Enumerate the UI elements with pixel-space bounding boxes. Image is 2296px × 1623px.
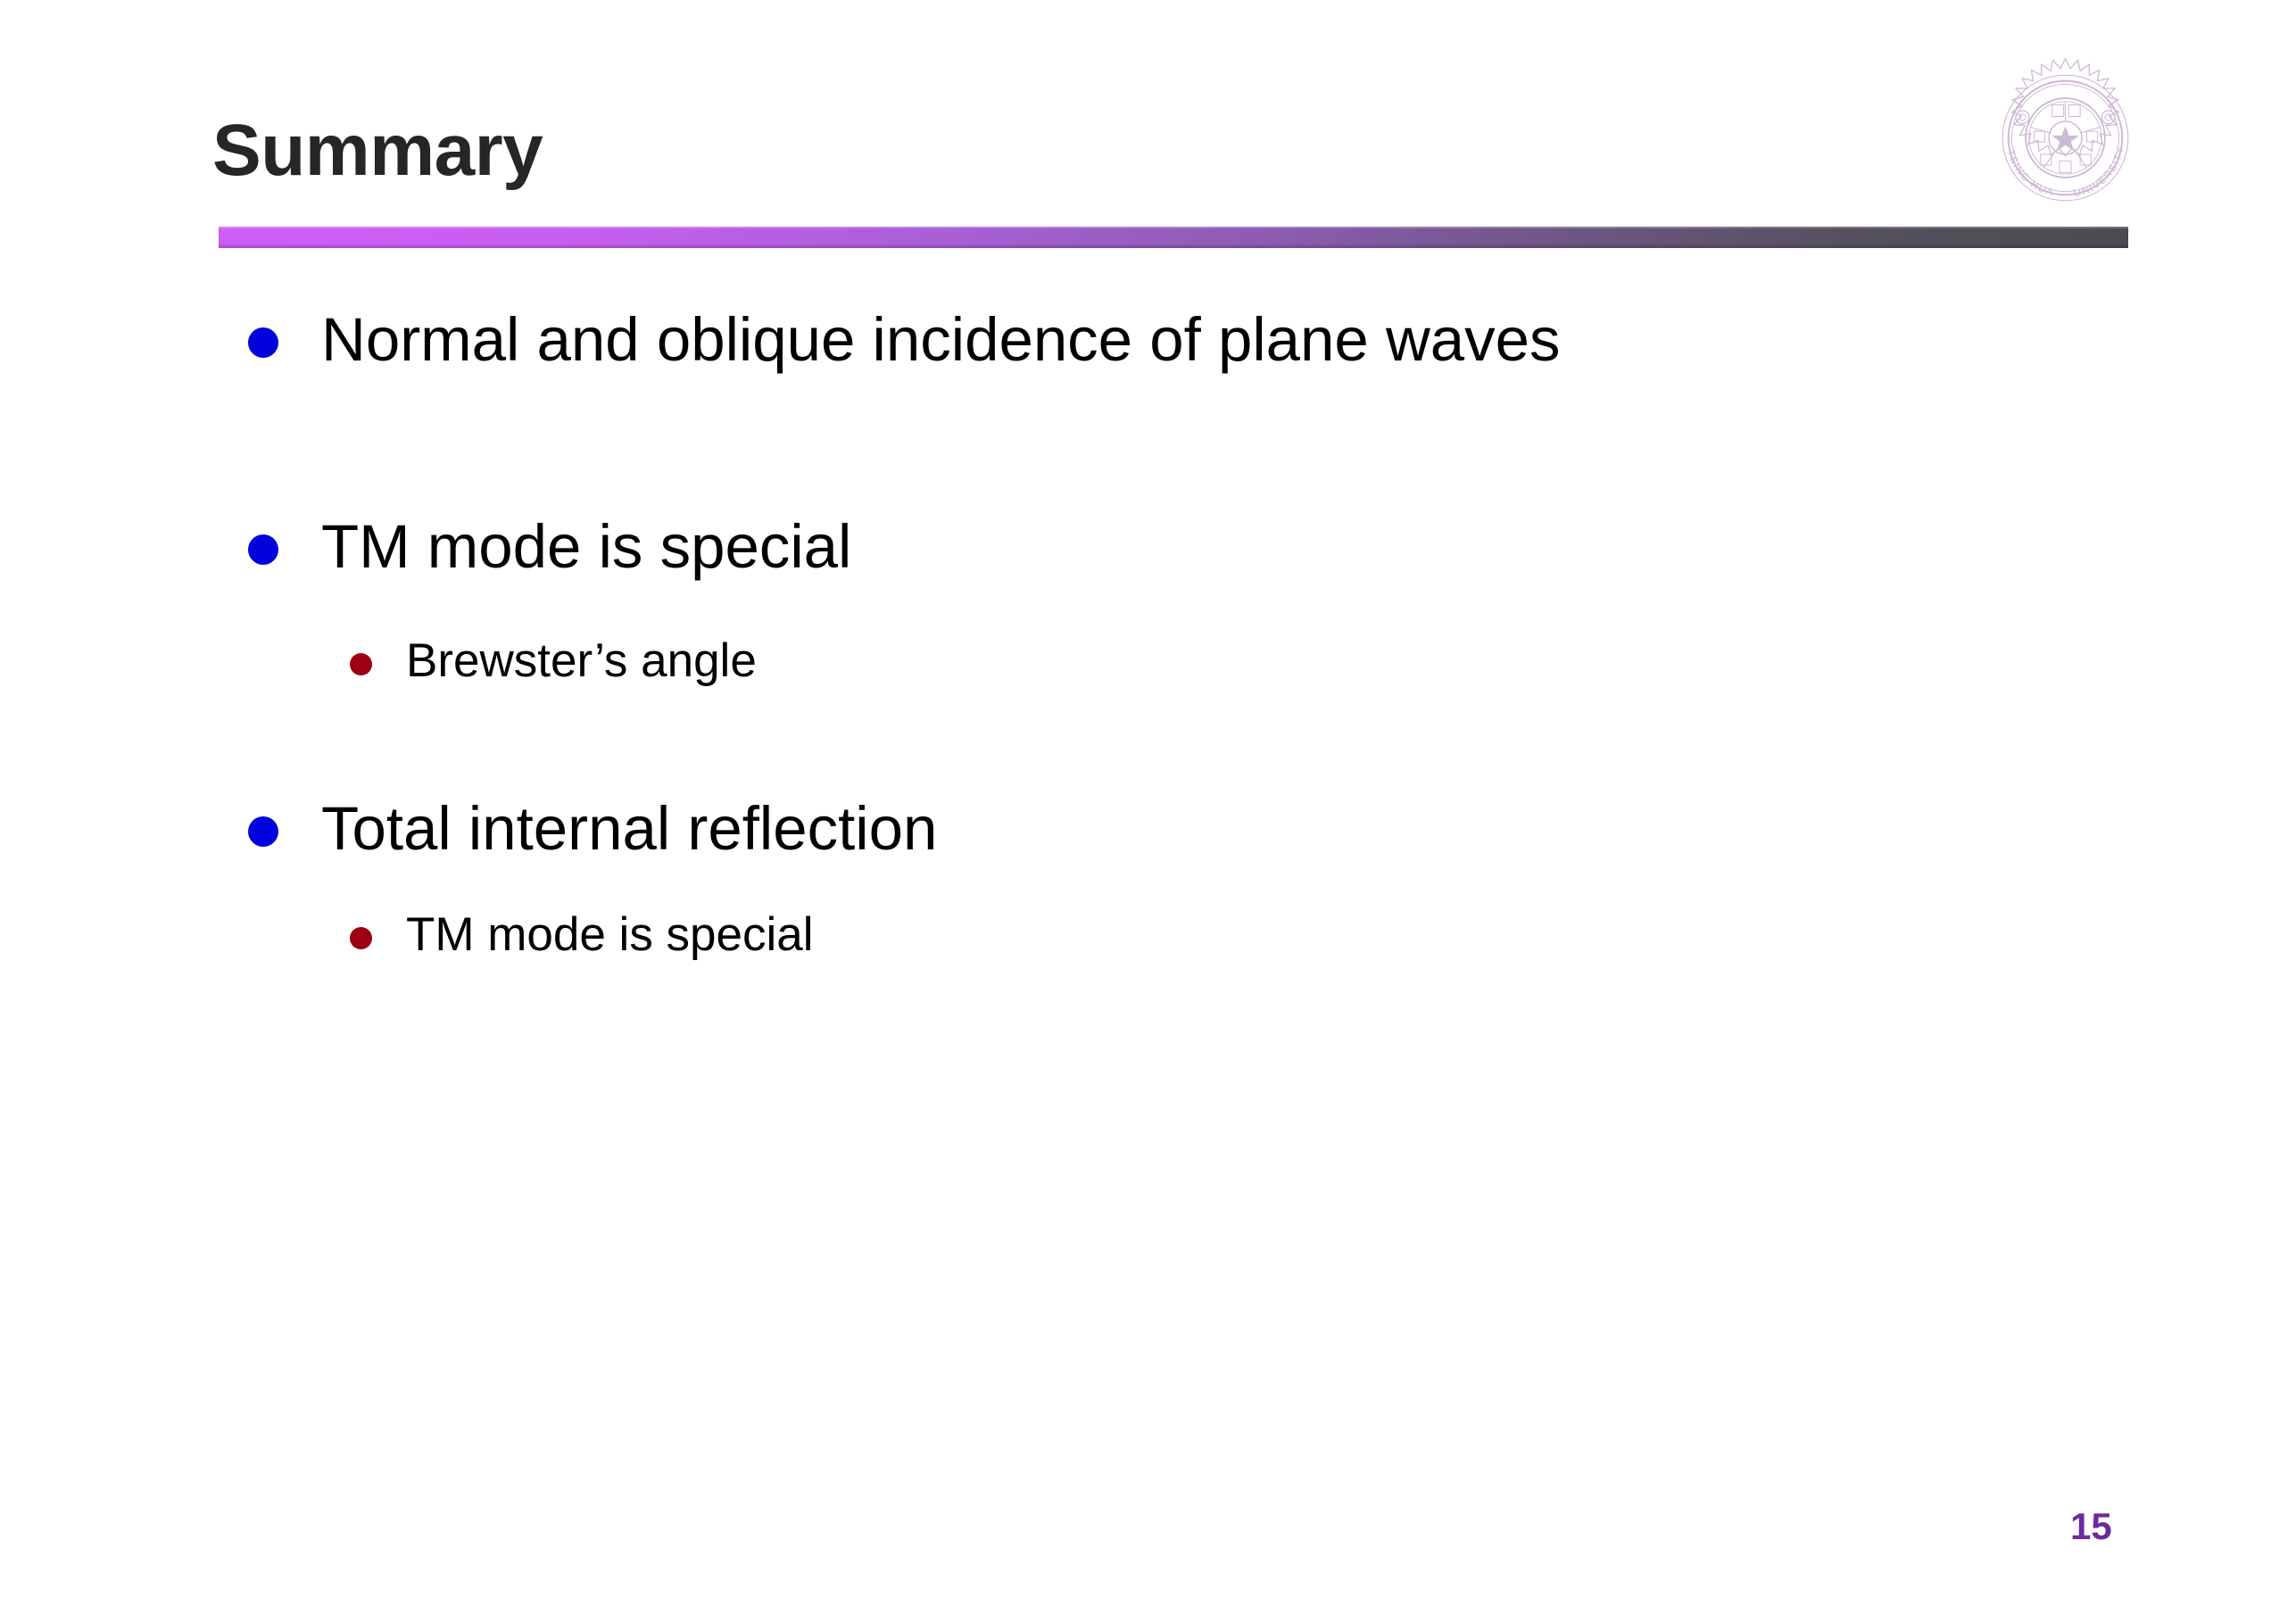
bullet-marker-icon xyxy=(350,927,372,949)
bullet-item-level1: TM mode is special xyxy=(248,514,851,579)
bullet-marker-icon xyxy=(248,534,278,565)
bullet-item-level2: Brewster’s angle xyxy=(350,636,757,686)
tsinghua-university-seal-logo: TSING HUA UNIVERSITY xyxy=(1983,55,2148,220)
presentation-slide: Summary xyxy=(0,0,2296,1623)
bullet-text: Brewster’s angle xyxy=(406,636,757,686)
bullet-text: Normal and oblique incidence of plane wa… xyxy=(321,307,1561,372)
bullet-marker-icon xyxy=(248,816,278,847)
bullet-marker-icon xyxy=(350,653,372,675)
star-icon xyxy=(2051,127,2078,152)
title-divider-bar xyxy=(219,227,2128,248)
bullet-text: Total internal reflection xyxy=(321,796,937,861)
seal-text-right: UNIVERSITY xyxy=(2073,145,2127,199)
page-number: 15 xyxy=(2070,1505,2112,1548)
bullet-item-level1: Normal and oblique incidence of plane wa… xyxy=(248,307,1561,372)
bullet-item-level1: Total internal reflection xyxy=(248,796,937,861)
seal-icon: TSING HUA UNIVERSITY xyxy=(1983,55,2148,220)
bullet-text: TM mode is special xyxy=(406,910,814,960)
bullet-item-level2: TM mode is special xyxy=(350,910,814,960)
bullet-text: TM mode is special xyxy=(321,514,851,579)
page-title: Summary xyxy=(212,114,543,187)
bullet-marker-icon xyxy=(248,327,278,358)
